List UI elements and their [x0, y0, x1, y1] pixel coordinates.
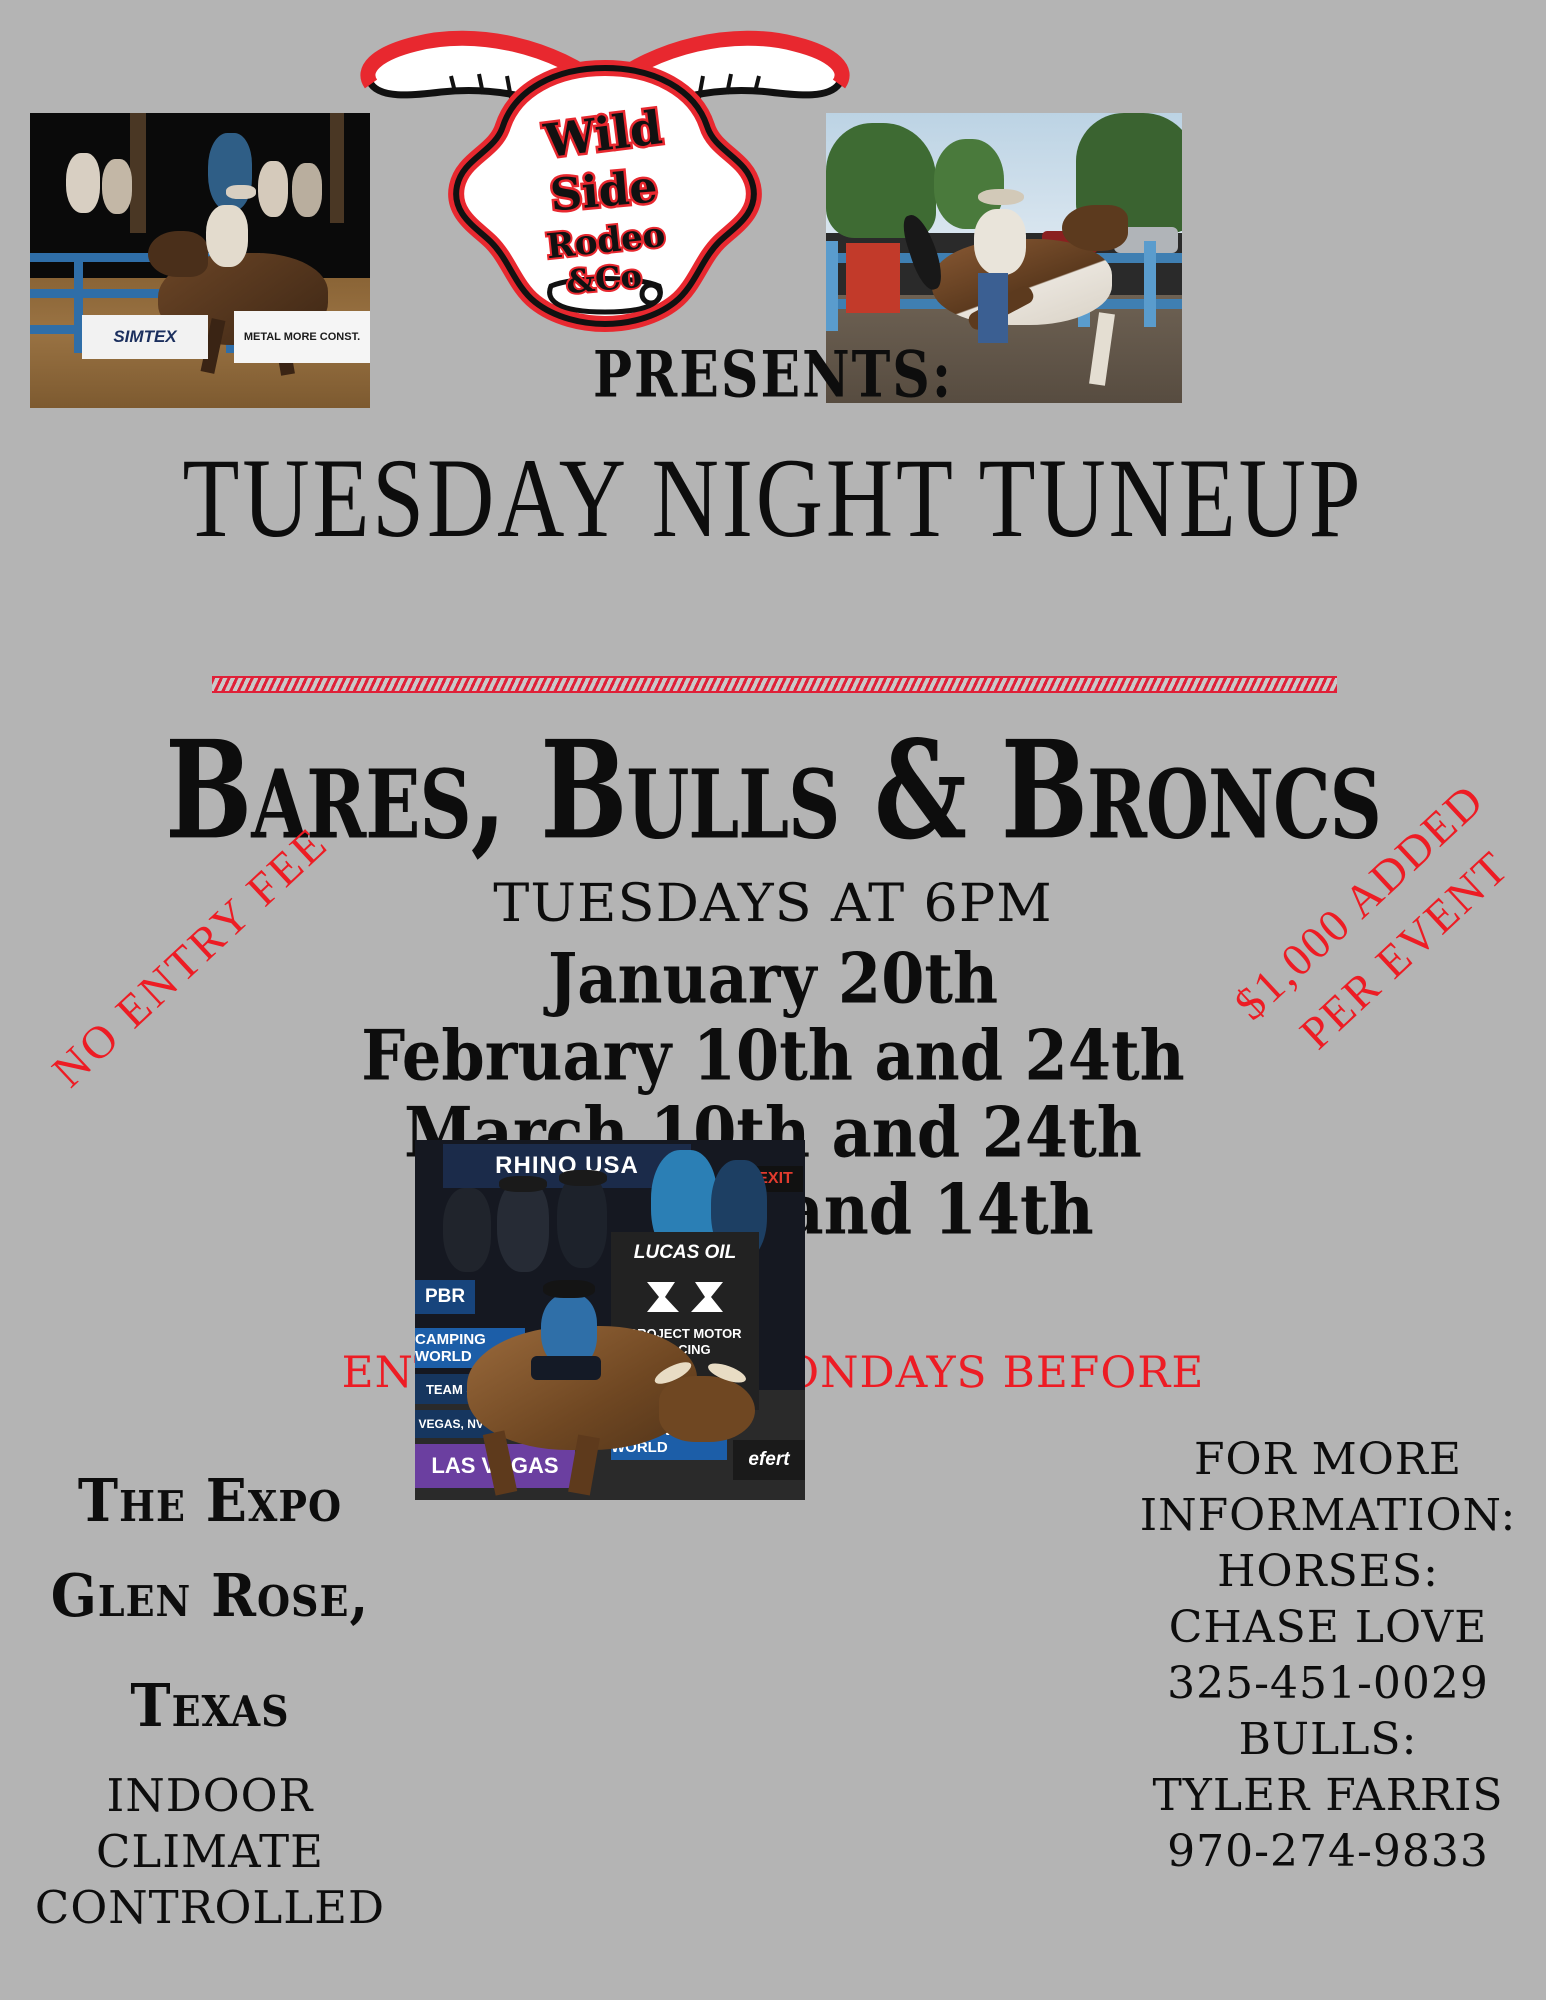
contact-name-chase-love: CHASE LOVE: [1118, 1600, 1538, 1656]
project-motor-racing-icon: [635, 1274, 735, 1320]
rodeo-event-poster: SIMTEX METAL MORE CONST.: [0, 0, 1546, 2000]
contact-label-bulls: BULLS:: [1118, 1712, 1538, 1768]
contact-line-for-more: FOR MORE: [1118, 1432, 1538, 1488]
wild-side-rodeo-logo: Wild Side Rodeo &Co: [355, 18, 855, 338]
photo-bull-riding-bottom: RHINO USA EXIT LUCAS OIL PROJECT MOTOR R…: [415, 1140, 805, 1500]
venue-note-line2: CONTROLLED: [0, 1880, 420, 1936]
red-hatched-divider: [212, 676, 1337, 693]
event-series-title: TUESDAY NIGHT TUNEUP: [23, 432, 1523, 563]
venue-note-line1: INDOOR CLIMATE: [0, 1768, 420, 1880]
photo-sign-pbr: PBR: [415, 1280, 475, 1314]
contact-phone-chase-love[interactable]: 325-451-0029: [1118, 1656, 1538, 1712]
contact-line-information: INFORMATION:: [1118, 1488, 1538, 1544]
logo-text-co: &Co: [565, 257, 644, 301]
main-headline: Bares, Bulls & Broncs: [8, 710, 1539, 870]
photo-sign-efert: efert: [733, 1440, 805, 1480]
longhorn-skull-icon: Wild Side Rodeo &Co: [355, 18, 855, 338]
contact-phone-tyler-farris[interactable]: 970-274-9833: [1118, 1824, 1538, 1880]
venue-name: The Expo: [0, 1445, 420, 1555]
contact-label-horses: HORSES:: [1118, 1544, 1538, 1600]
presents-label: PRESENTS:: [0, 338, 1546, 412]
venue-city: Glen Rose, Texas: [0, 1540, 420, 1760]
contact-name-tyler-farris: TYLER FARRIS: [1118, 1768, 1538, 1824]
contact-block: FOR MORE INFORMATION: HORSES: CHASE LOVE…: [1118, 1432, 1538, 1880]
logo-text-side: Side: [548, 161, 659, 221]
venue-block: The Expo Glen Rose, Texas INDOOR CLIMATE…: [0, 1450, 420, 1936]
